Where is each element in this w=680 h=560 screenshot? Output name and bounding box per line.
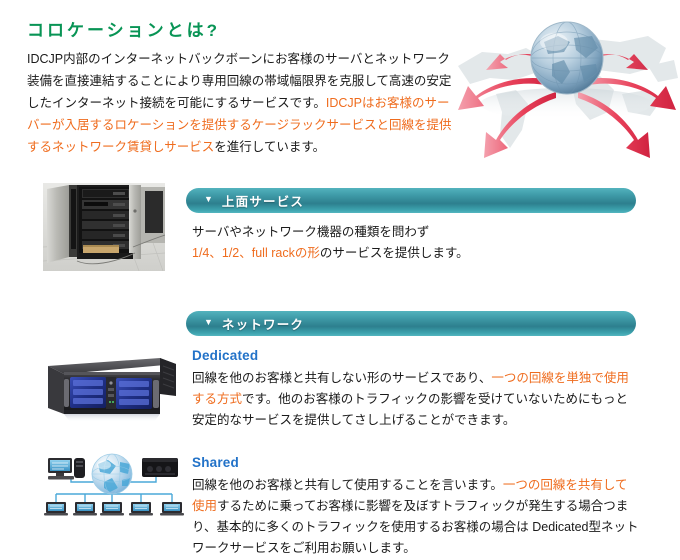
dedicated-plain-1: 回線を他のお客様と共有しない形のサービスであり、: [192, 371, 491, 385]
upper-plain-1: サーバやネットワーク機器の種類を問わず: [192, 225, 429, 239]
section-header-upper-service[interactable]: ▼ 上面サービス: [186, 188, 636, 213]
section-header-network[interactable]: ▼ ネットワーク: [186, 311, 636, 336]
server-switch-node: [142, 458, 178, 477]
upper-service-body: サーバやネットワーク機器の種類を問わず1/4、1/2、full rackの形のサ…: [192, 222, 632, 264]
intro-text-plain-2: を進行しています。: [214, 140, 325, 154]
server-rack-photo-icon: [43, 183, 165, 271]
dedicated-body: Dedicated 回線を他のお客様と共有しない形のサービスであり、一つの回線を…: [192, 345, 640, 431]
desktop-computer-node: [48, 458, 85, 480]
shared-plain-2: するために乗ってお客様に影響を及ぼすトラフィックが発生する場合つまり、基本的に多…: [192, 499, 639, 555]
globe-shadow: [480, 88, 652, 120]
globe-node: [92, 454, 132, 494]
shared-plain-1: 回線を他のお客様と共有して使用することを言います。: [192, 478, 503, 492]
chevron-down-icon: ▼: [204, 195, 213, 204]
intro-paragraph: IDCJP内部のインターネットバックボーンにお客様のサーバとネットワーク装備を直…: [27, 48, 457, 158]
globe-sphere: [531, 22, 603, 94]
world-map-shape: [458, 36, 678, 148]
dedicated-heading: Dedicated: [192, 345, 640, 366]
rackmount-server-photo-icon: [40, 352, 180, 424]
upper-plain-2: のサービスを提供します。: [320, 246, 469, 260]
shared-heading: Shared: [192, 452, 640, 473]
chevron-down-icon: ▼: [204, 318, 213, 327]
network-topology-diagram-icon: [38, 448, 186, 518]
shared-body: Shared 回線を他のお客様と共有して使用することを言います。一つの回線を共有…: [192, 452, 640, 559]
section-header-label: ネットワーク: [222, 314, 304, 333]
laptop-nodes: [44, 502, 184, 516]
upper-highlight: 1/4、1/2、full rackの形: [192, 246, 320, 260]
globe-world-map-arrows-icon: [452, 8, 680, 168]
section-header-label: 上面サービス: [222, 191, 304, 210]
page-title: コロケーションとは?: [27, 16, 220, 41]
dedicated-plain-2: です。他のお客様のトラフィックの影響を受けていないためにもっと安定的なサービスを…: [192, 392, 628, 427]
radiating-arrows: [458, 54, 676, 158]
